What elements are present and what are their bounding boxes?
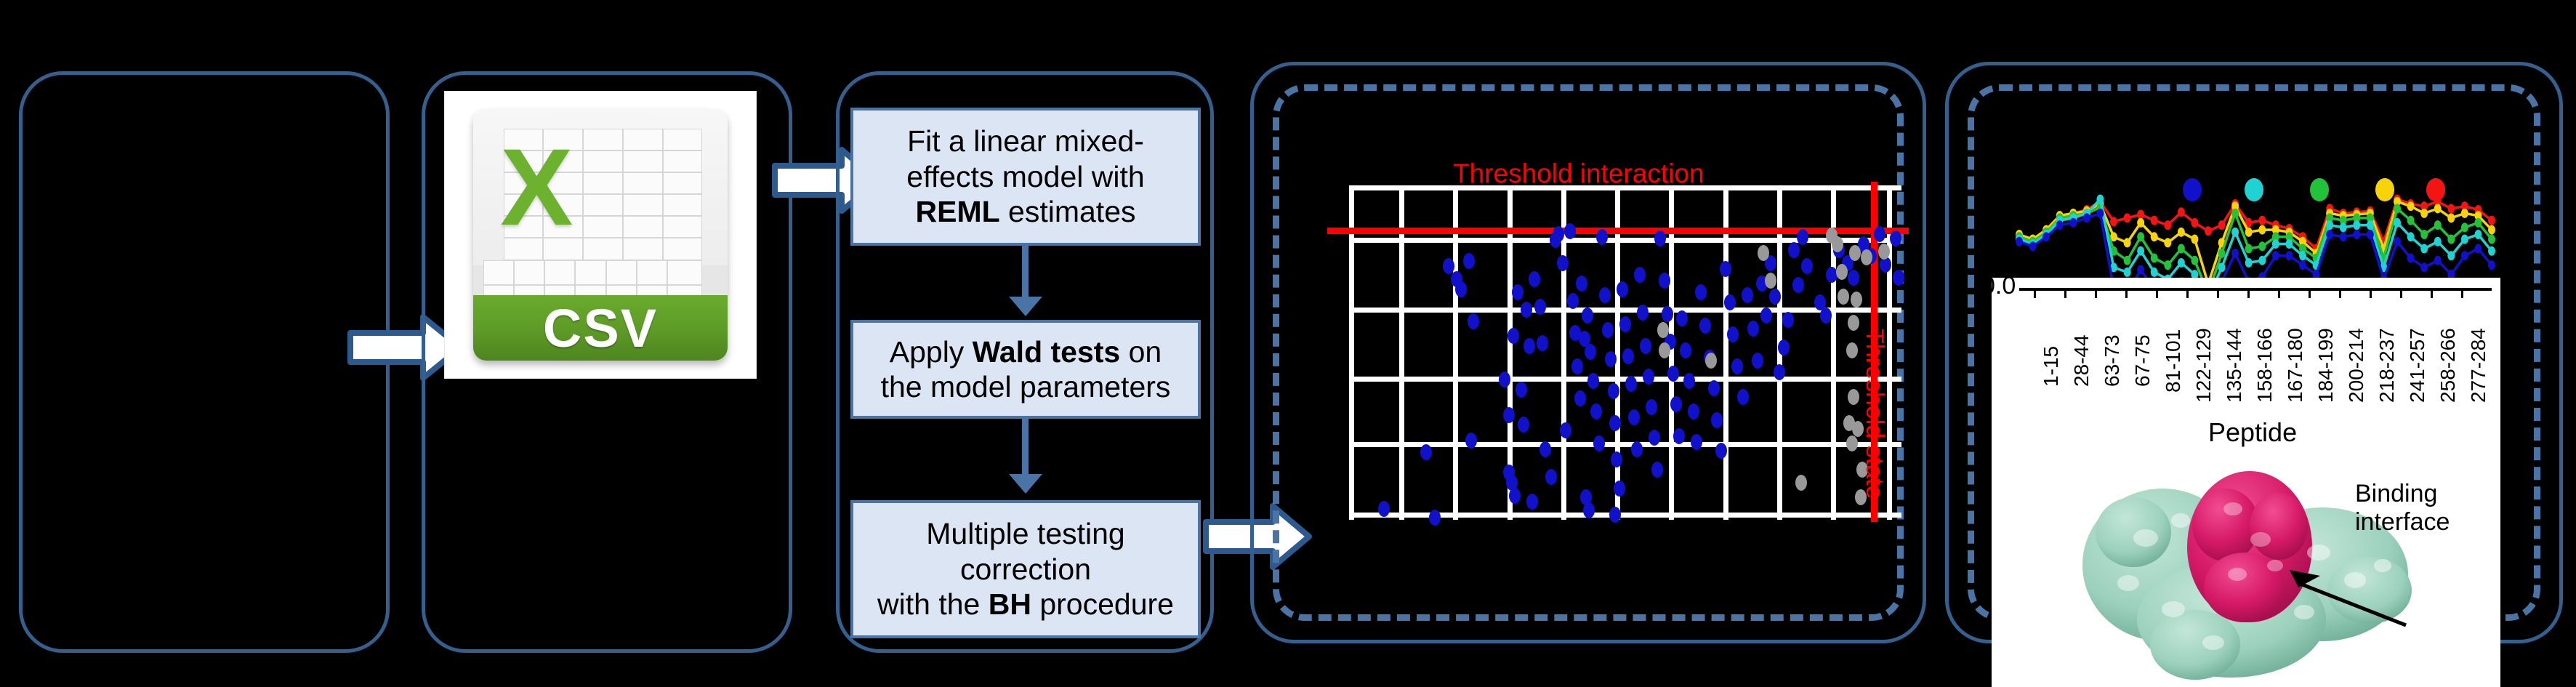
peptide-series-point bbox=[2164, 220, 2171, 230]
peptide-tick-label: 122-129 bbox=[2192, 328, 2215, 403]
peptide-series-point bbox=[2447, 204, 2455, 213]
csv-card: X CSV bbox=[473, 109, 728, 361]
peptide-series-point bbox=[2407, 232, 2415, 241]
csv-file-icon: X CSV bbox=[445, 92, 756, 378]
peptide-series-point bbox=[2258, 225, 2266, 235]
peptide-series-point bbox=[2178, 258, 2185, 268]
peptide-series-point bbox=[2042, 232, 2050, 241]
peptide-series-point bbox=[2353, 230, 2360, 239]
peptide-series-point bbox=[2096, 194, 2104, 204]
csv-format-band: CSV bbox=[473, 295, 728, 361]
peptide-series-point bbox=[2461, 209, 2468, 218]
peptide-series-point bbox=[2299, 251, 2306, 260]
peptide-series-point bbox=[2394, 204, 2401, 213]
peptide-series-point bbox=[2151, 216, 2158, 225]
peptide-series-point bbox=[2056, 220, 2064, 230]
legend-dot-red bbox=[2426, 178, 2445, 201]
peptide-tick-label: 277-284 bbox=[2467, 328, 2490, 403]
peptide-series-point bbox=[2299, 260, 2306, 270]
peptide-series-point bbox=[2137, 265, 2144, 275]
peptide-series-point bbox=[2367, 230, 2374, 239]
peptide-series-point bbox=[2205, 226, 2212, 236]
peptide-series-point bbox=[2218, 249, 2226, 258]
bh-correction-text: Multiple testing correction with the BH … bbox=[877, 516, 1174, 622]
peptide-series-point bbox=[2258, 216, 2266, 225]
peptide-series-point bbox=[2245, 228, 2253, 237]
peptide-series-point bbox=[2394, 237, 2401, 246]
legend-dot-cyan bbox=[2245, 178, 2263, 201]
peptide-series-point bbox=[2151, 232, 2158, 241]
peptide-series-point bbox=[2191, 218, 2198, 228]
fit-model-text: Fit a linear mixed- effects model with R… bbox=[906, 124, 1144, 229]
peptide-series-point bbox=[2231, 228, 2239, 237]
peptide-series-point bbox=[2474, 218, 2482, 228]
peptide-series-point bbox=[2151, 253, 2158, 262]
peptide-series-point bbox=[2178, 244, 2185, 254]
peptide-tick-label: 218-237 bbox=[2375, 328, 2399, 403]
connector-1-arrowhead bbox=[1009, 297, 1042, 316]
peptide-series-point bbox=[2461, 251, 2468, 260]
process-box-bh-correction: Multiple testing correction with the BH … bbox=[850, 500, 1201, 638]
peptide-series-point bbox=[2488, 246, 2495, 256]
peptide-tick-label: 81-101 bbox=[2162, 329, 2185, 393]
peptide-series-point bbox=[2326, 220, 2333, 230]
peptide-series-point bbox=[2474, 244, 2482, 254]
peptide-series-point bbox=[2164, 238, 2171, 247]
wald-tests-text: Apply Wald tests on the model parameters bbox=[881, 334, 1171, 405]
peptide-series-point bbox=[2151, 268, 2158, 277]
peptide-series-point bbox=[2474, 230, 2482, 239]
peptide-series-point bbox=[2096, 209, 2104, 218]
peptide-series-point bbox=[2272, 239, 2279, 249]
peptide-series-point bbox=[2407, 216, 2415, 225]
peptide-series-point bbox=[2124, 238, 2131, 247]
peptide-series-point bbox=[2178, 207, 2185, 217]
peptide-series-point bbox=[2285, 251, 2293, 260]
peptide-series-point bbox=[2137, 218, 2144, 228]
peptide-series-point bbox=[2434, 237, 2442, 246]
process-box-wald-tests: Apply Wald tests on the model parameters bbox=[850, 320, 1201, 419]
peptide-series-point bbox=[2124, 213, 2131, 222]
peptide-series-point bbox=[2407, 253, 2415, 262]
legend-dot-blue bbox=[2183, 178, 2202, 201]
peptide-series-point bbox=[2420, 244, 2428, 254]
flow-diagram-canvas: X CSV Fit a linear mixed- effects model … bbox=[0, 0, 2576, 687]
peptide-series-point bbox=[2191, 235, 2198, 244]
peptide-axis-title: Peptide bbox=[2208, 417, 2297, 448]
connector-2-arrowhead bbox=[1009, 474, 1042, 494]
peptide-series-point bbox=[2447, 251, 2455, 260]
peptide-series-point bbox=[2124, 256, 2131, 265]
threshold-interaction-label: Threshold interaction bbox=[1453, 158, 1704, 189]
peptide-tick-label: 158-166 bbox=[2253, 328, 2277, 403]
peptide-series-point bbox=[2191, 256, 2198, 265]
peptide-series-point bbox=[2434, 256, 2442, 265]
peptide-series-point bbox=[2016, 237, 2023, 246]
peptide-series-point bbox=[2461, 235, 2468, 244]
peptide-series-point bbox=[2394, 218, 2401, 228]
peptide-tick-label: 200-214 bbox=[2345, 328, 2368, 403]
peptide-tick-label: 167-180 bbox=[2284, 328, 2307, 403]
peptide-series-point bbox=[2285, 239, 2293, 249]
threshold-state-label: Threshold state bbox=[1860, 329, 1888, 499]
peptide-series-point bbox=[2447, 213, 2455, 222]
peptide-tick-label: 241-257 bbox=[2406, 328, 2429, 403]
peptide-tick-label: 135-144 bbox=[2223, 328, 2246, 403]
panel-input-data bbox=[19, 71, 390, 653]
csv-format-label: CSV bbox=[543, 297, 658, 359]
peptide-series-point bbox=[2488, 225, 2495, 235]
peptide-series-point bbox=[2447, 235, 2455, 244]
peptide-series-point bbox=[2231, 209, 2239, 218]
threshold-interaction-line bbox=[1327, 228, 1909, 234]
peptide-series-point bbox=[2407, 201, 2415, 211]
peptide-series-point bbox=[2258, 241, 2266, 251]
peptide-series-point bbox=[2137, 210, 2144, 220]
peptide-series-point bbox=[2434, 220, 2442, 230]
peptide-tick-label: 1-15 bbox=[2040, 346, 2063, 387]
peptide-tick-label: 184-199 bbox=[2314, 328, 2338, 403]
peptide-series-point bbox=[2218, 220, 2226, 230]
peptide-tick-label: 28-44 bbox=[2070, 334, 2093, 387]
peptide-series-point bbox=[2164, 260, 2171, 270]
peptide-series-point bbox=[2488, 235, 2495, 244]
peptide-series-point bbox=[2069, 218, 2077, 228]
excel-x-glyph: X bbox=[478, 114, 595, 260]
peptide-series-point bbox=[2488, 216, 2495, 225]
process-box-fit-model: Fit a linear mixed- effects model with R… bbox=[850, 108, 1201, 246]
connector-2 bbox=[1022, 419, 1029, 477]
peptide-x-axis bbox=[2019, 288, 2492, 291]
peptide-series-point bbox=[2231, 249, 2239, 258]
peptide-series-point bbox=[2178, 228, 2185, 237]
peptide-tick-label: 67-75 bbox=[2131, 334, 2154, 387]
peptide-series-point bbox=[2245, 244, 2253, 254]
connector-1 bbox=[1022, 246, 1029, 300]
peptide-series-point bbox=[2083, 213, 2090, 222]
peptide-series-point bbox=[2137, 232, 2144, 241]
peptide-series-point bbox=[2367, 220, 2374, 230]
volcano-scatter-plot bbox=[1349, 185, 1901, 520]
peptide-series-point bbox=[2488, 260, 2495, 270]
peptide-series-point bbox=[2272, 251, 2279, 260]
peptide-series-point bbox=[2218, 262, 2226, 272]
binding-interface-callout: Binding interface bbox=[2355, 480, 2450, 537]
peptide-series-point bbox=[2245, 258, 2253, 268]
peptide-series-point bbox=[2353, 220, 2360, 230]
peptide-protein-inset: 0.0 1-15 28-44 63-73 67-75 81-101 122-12… bbox=[1992, 278, 2500, 687]
peptide-series-point bbox=[2420, 262, 2428, 272]
peptide-series-point bbox=[2434, 204, 2442, 213]
peptide-series-point bbox=[2326, 230, 2333, 239]
peptide-series-point bbox=[2420, 209, 2428, 218]
legend-dot-green bbox=[2310, 178, 2329, 201]
peptide-series-point bbox=[2258, 256, 2266, 265]
peptide-series-point bbox=[2137, 246, 2144, 256]
peptide-series-point bbox=[2340, 232, 2347, 241]
legend-dot-yellow bbox=[2375, 178, 2394, 201]
peptide-series-point bbox=[2029, 241, 2037, 251]
peptide-tick-label: 258-266 bbox=[2436, 328, 2460, 403]
peptide-series-point bbox=[2110, 217, 2117, 226]
peptide-tick-label: 63-73 bbox=[2101, 334, 2124, 387]
peptide-series-point bbox=[2340, 222, 2347, 232]
peptide-series-point bbox=[2461, 222, 2468, 232]
peptide-series-point bbox=[2124, 268, 2131, 277]
peptide-series-point bbox=[2420, 230, 2428, 239]
peptide-y-tick-0: 0.0 bbox=[1981, 272, 2016, 300]
